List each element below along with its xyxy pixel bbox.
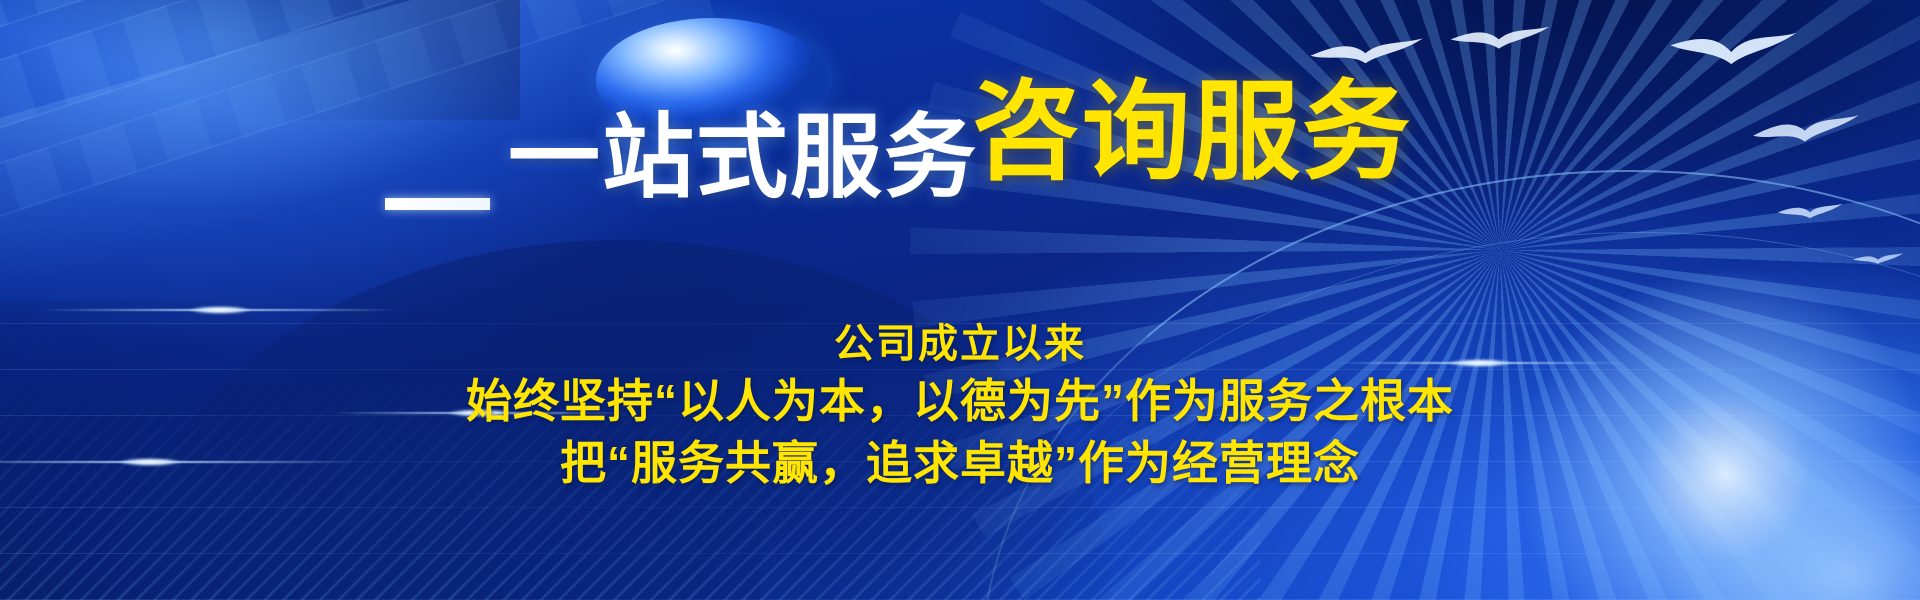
seagull-icon	[1851, 252, 1904, 270]
promo-banner: 一站式服务 咨询服务 公司成立以来 始终坚持“以人为本，以德为先”作为服务之根本…	[0, 0, 1920, 600]
lens-flare-icon	[40, 300, 400, 320]
subcopy-block: 公司成立以来 始终坚持“以人为本，以德为先”作为服务之根本 把“服务共赢，追求卓…	[0, 318, 1920, 494]
headline-accent: 咨询服务	[972, 78, 1412, 186]
subcopy-line-3: 把“服务共赢，追求卓越”作为经营理念	[0, 432, 1920, 494]
subcopy-line-1: 公司成立以来	[0, 318, 1920, 370]
seagull-icon	[1448, 26, 1552, 63]
headline-primary: 一站式服务	[508, 112, 978, 204]
film-strip-band	[0, 0, 670, 63]
headline: 一站式服务 咨询服务	[0, 96, 1920, 204]
seagull-icon	[1776, 202, 1844, 226]
seagull-icon	[1668, 32, 1800, 81]
subcopy-line-2: 始终坚持“以人为本，以德为先”作为服务之根本	[0, 370, 1920, 432]
